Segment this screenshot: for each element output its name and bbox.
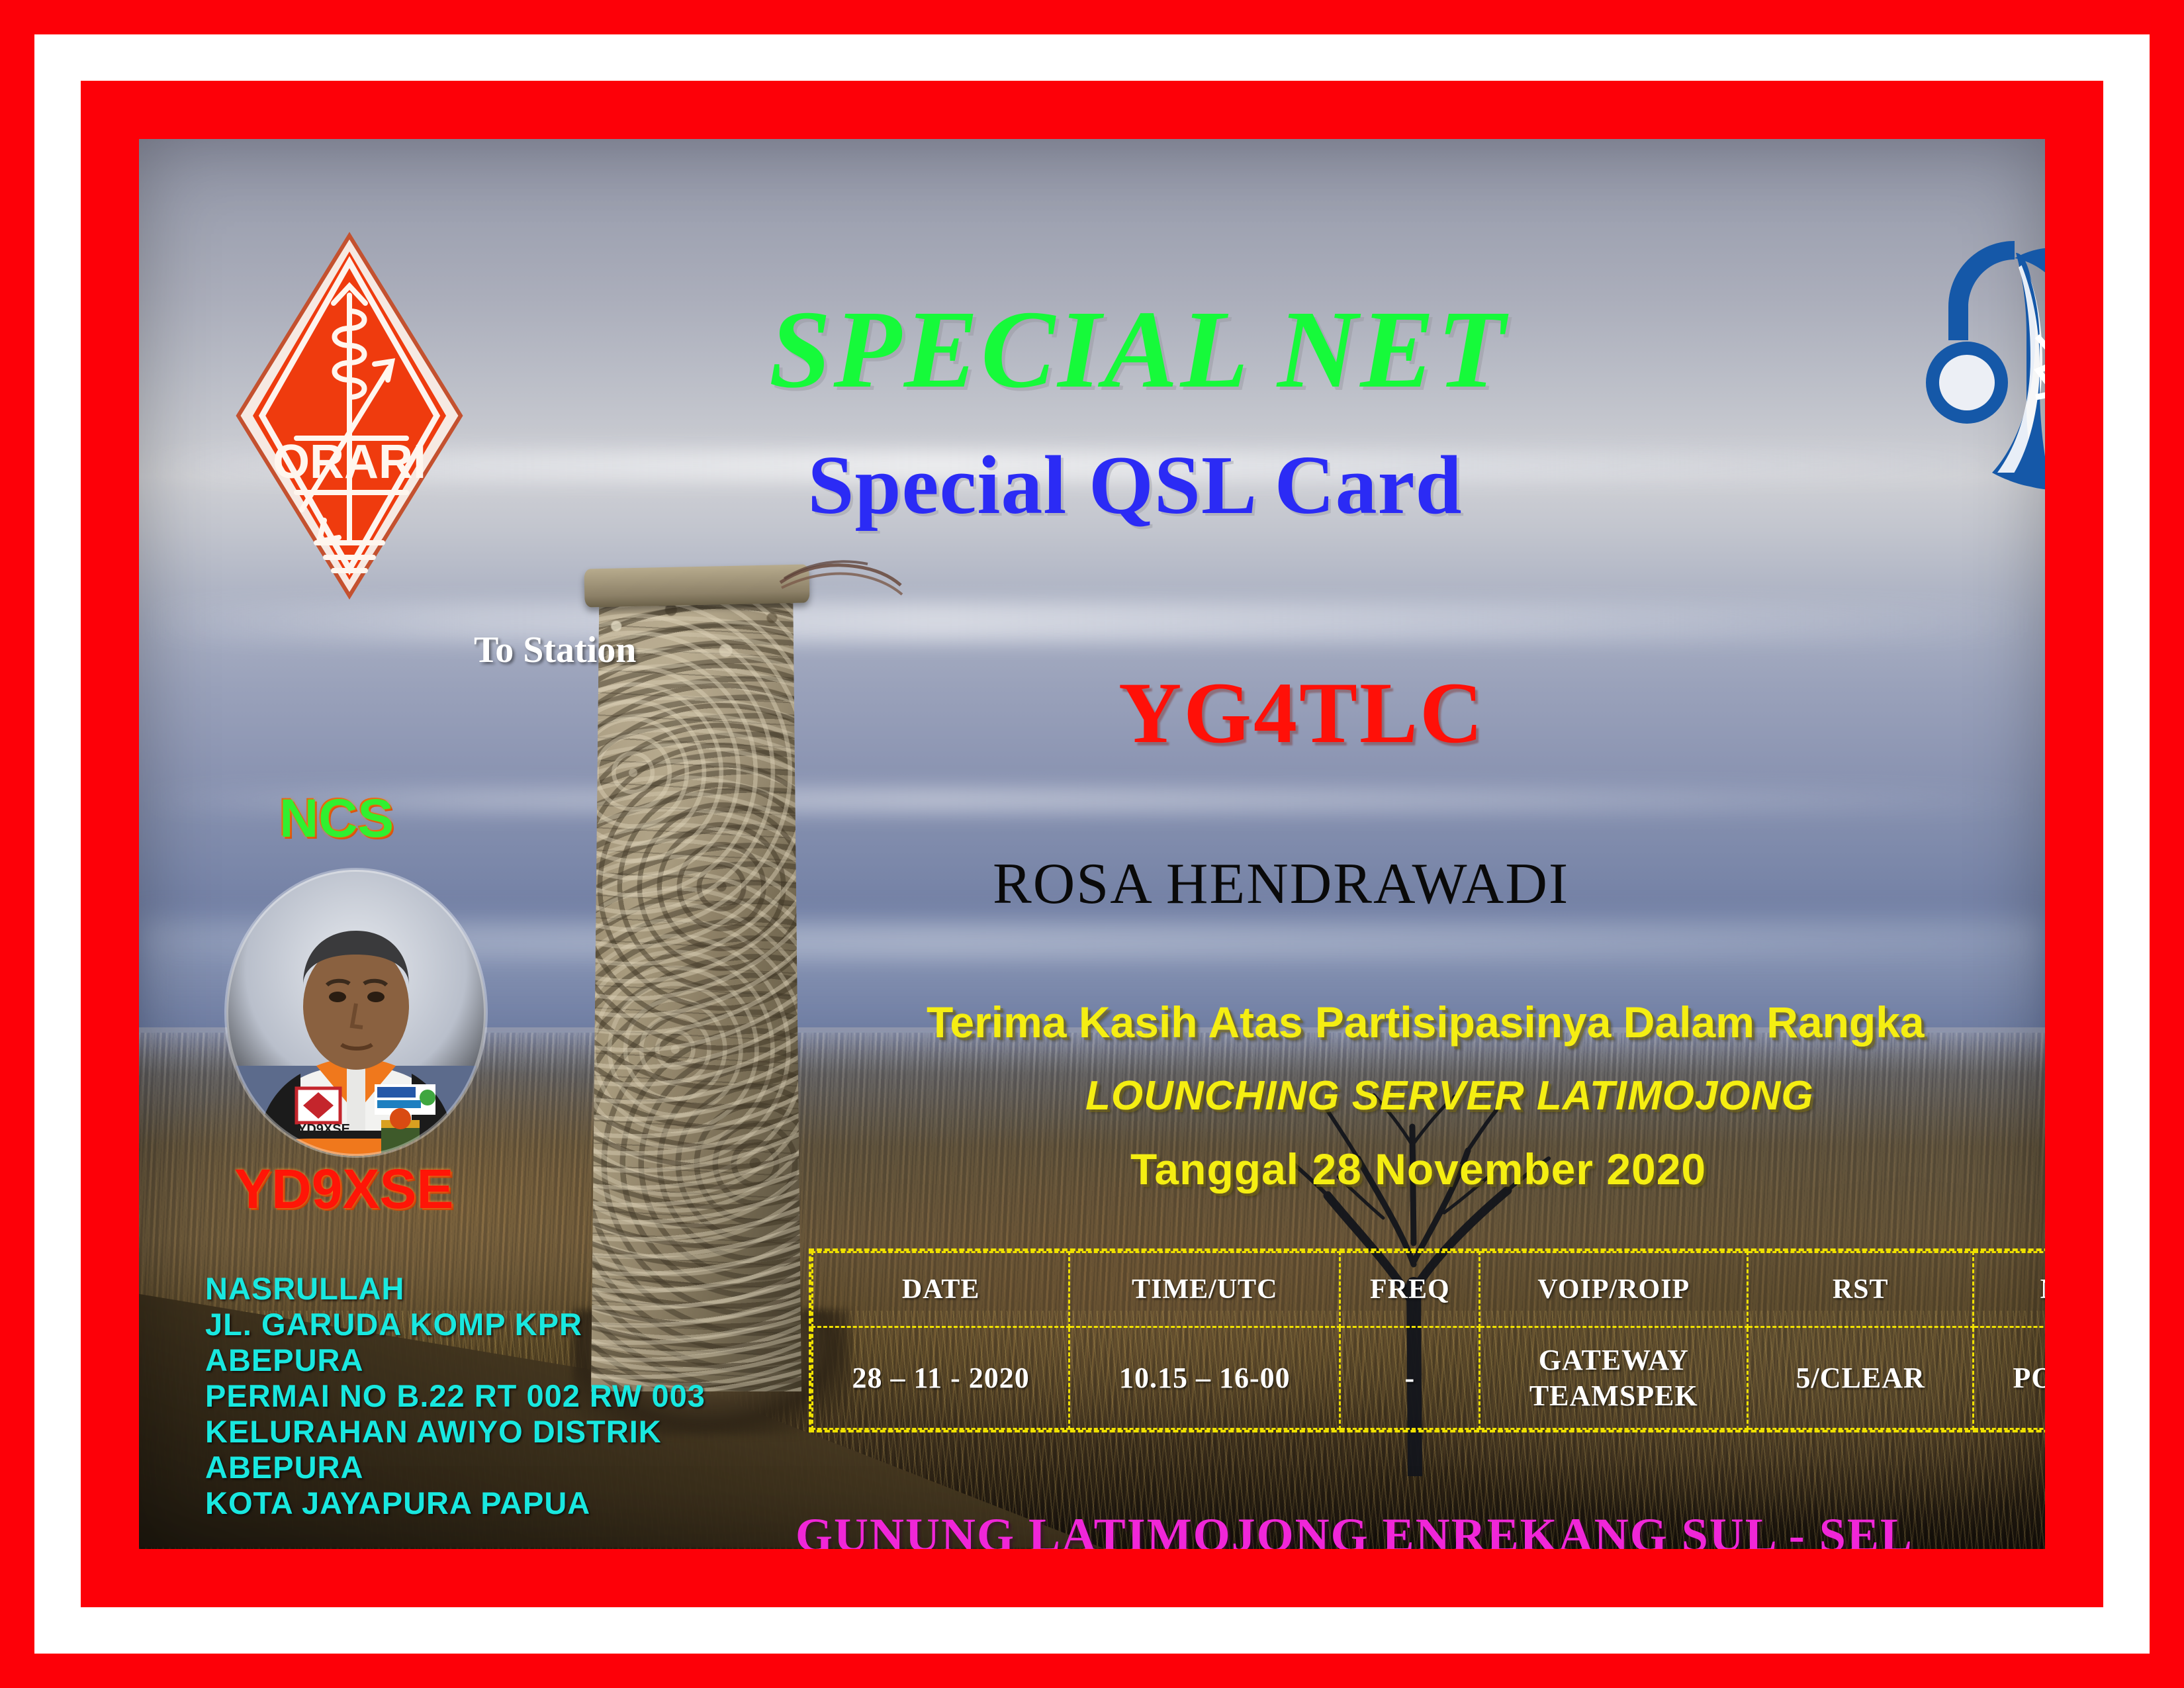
column-header-rst: RST (1748, 1252, 1974, 1327)
to-station-label: To Station (474, 629, 636, 671)
title-special-net: SPECIAL NET (139, 286, 2045, 414)
qso-log-table: DATE TIME/UTC FREQ VOIP/ROIP RST MODE (809, 1248, 2045, 1432)
station-callsign: YG4TLC (1118, 662, 1484, 763)
column-header-voip: VOIP/ROIP (1480, 1252, 1748, 1327)
operator-name: ROSA HENDRAWADI (993, 851, 1569, 917)
address-line: KOTA JAYAPURA PAPUA (205, 1485, 748, 1521)
cell-freq: - (1340, 1327, 1480, 1429)
address-line: NASRULLAH (205, 1271, 748, 1307)
cell-mode: PONE/CW (1974, 1327, 2045, 1429)
address-line: JL. GARUDA KOMP KPR (205, 1307, 748, 1342)
card-white-border: ORARI (34, 34, 2150, 1654)
table-row: 28 – 11 - 2020 10.15 – 16-00 - GATEWAY T… (813, 1327, 2046, 1429)
ncs-callsign: YD9XSE (234, 1157, 454, 1221)
cell-voip-line2: TEAMSPEK (1529, 1380, 1698, 1412)
location-caption: GUNUNG LATIMOJONG ENREKANG SUL - SEL (796, 1508, 1913, 1549)
event-thanks-line: Terima Kasih Atas Partisipasinya Dalam R… (927, 997, 1925, 1047)
sender-address-block: NASRULLAH JL. GARUDA KOMP KPR ABEPURA PE… (205, 1271, 748, 1521)
cell-voip-line1: GATEWAY (1539, 1344, 1689, 1376)
address-line: KELURAHAN AWIYO DISTRIK (205, 1414, 748, 1450)
address-line: ABEPURA (205, 1342, 748, 1378)
cell-voip: GATEWAY TEAMSPEK (1480, 1327, 1748, 1429)
address-line: PERMAI NO B.22 RT 002 RW 003 (205, 1378, 748, 1414)
column-header-date: DATE (813, 1252, 1069, 1327)
column-header-freq: FREQ (1340, 1252, 1480, 1327)
ncs-label: NCS (279, 788, 394, 850)
column-header-time: TIME/UTC (1069, 1252, 1340, 1327)
svg-text:YD9XSE: YD9XSE (298, 1122, 350, 1137)
qsl-card: ORARI (0, 0, 2184, 1688)
event-date-line: Tanggal 28 November 2020 (1130, 1144, 1706, 1194)
cell-date: 28 – 11 - 2020 (813, 1327, 1069, 1429)
address-line: ABEPURA (205, 1450, 748, 1485)
card-photo-background: ORARI (139, 139, 2045, 1549)
column-header-mode: MODE (1974, 1252, 2045, 1327)
title-special-qsl-card: Special QSL Card (139, 438, 2045, 534)
cell-time: 10.15 – 16-00 (1069, 1327, 1340, 1429)
table-header-row: DATE TIME/UTC FREQ VOIP/ROIP RST MODE (813, 1252, 2046, 1327)
card-inner-red-border: ORARI (81, 81, 2103, 1607)
ncs-operator-portrait: YD9XSE (217, 867, 495, 1158)
event-title-line: LOUNCHING SERVER LATIMOJONG (1085, 1072, 1814, 1119)
cell-rst: 5/CLEAR (1748, 1327, 1974, 1429)
